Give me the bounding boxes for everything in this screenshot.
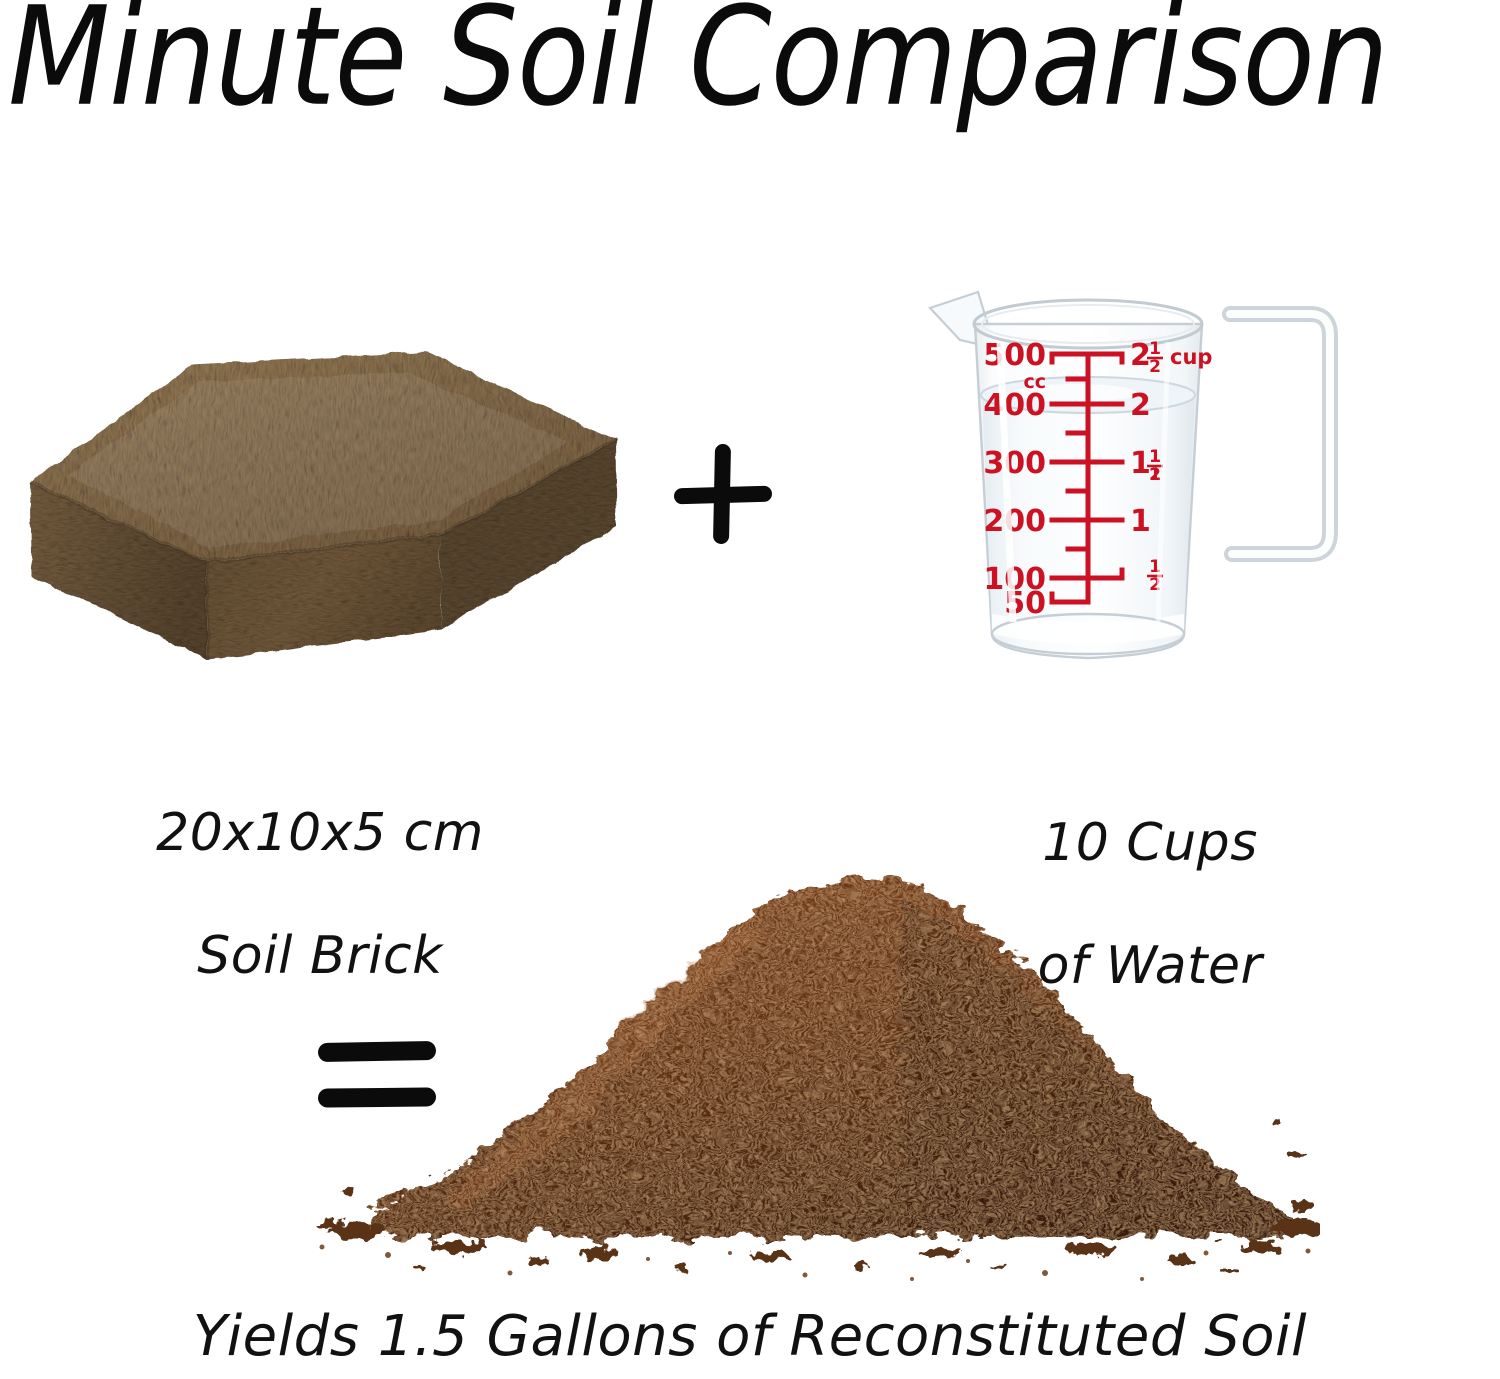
comparison-infographic: Minute Soil Comparison (0, 0, 1500, 1379)
cup-mark-two-and-half: 2 (1130, 338, 1151, 373)
svg-text:2: 2 (1149, 465, 1161, 485)
measuring-cup-image: 500 400 300 200 100 50 cc 2 2 1 1 1 2 1 … (900, 262, 1400, 692)
cup-mark-400: 400 (983, 388, 1046, 423)
svg-text:1: 1 (1149, 339, 1161, 359)
soil-pile-image (300, 855, 1320, 1285)
page-title: Minute Soil Comparison (8, 0, 1434, 132)
cup-mark-one: 1 (1130, 504, 1151, 539)
cup-mark-300: 300 (983, 446, 1046, 481)
svg-text:1: 1 (1149, 447, 1161, 467)
cup-mark-two: 2 (1130, 388, 1151, 423)
cup-mark-200: 200 (983, 504, 1046, 539)
yield-caption: Yields 1.5 Gallons of Reconstituted Soil (0, 1304, 1500, 1369)
cup-unit-cc: cc (1023, 371, 1046, 393)
plus-vertical-bar (713, 444, 731, 544)
cup-mark-500: 500 (983, 338, 1046, 373)
plus-operator-icon (668, 440, 778, 550)
svg-text:2: 2 (1149, 357, 1161, 377)
soil-brick-icon (8, 330, 638, 690)
soil-brick-image (8, 330, 638, 690)
cup-unit-cup: cup (1170, 345, 1212, 369)
